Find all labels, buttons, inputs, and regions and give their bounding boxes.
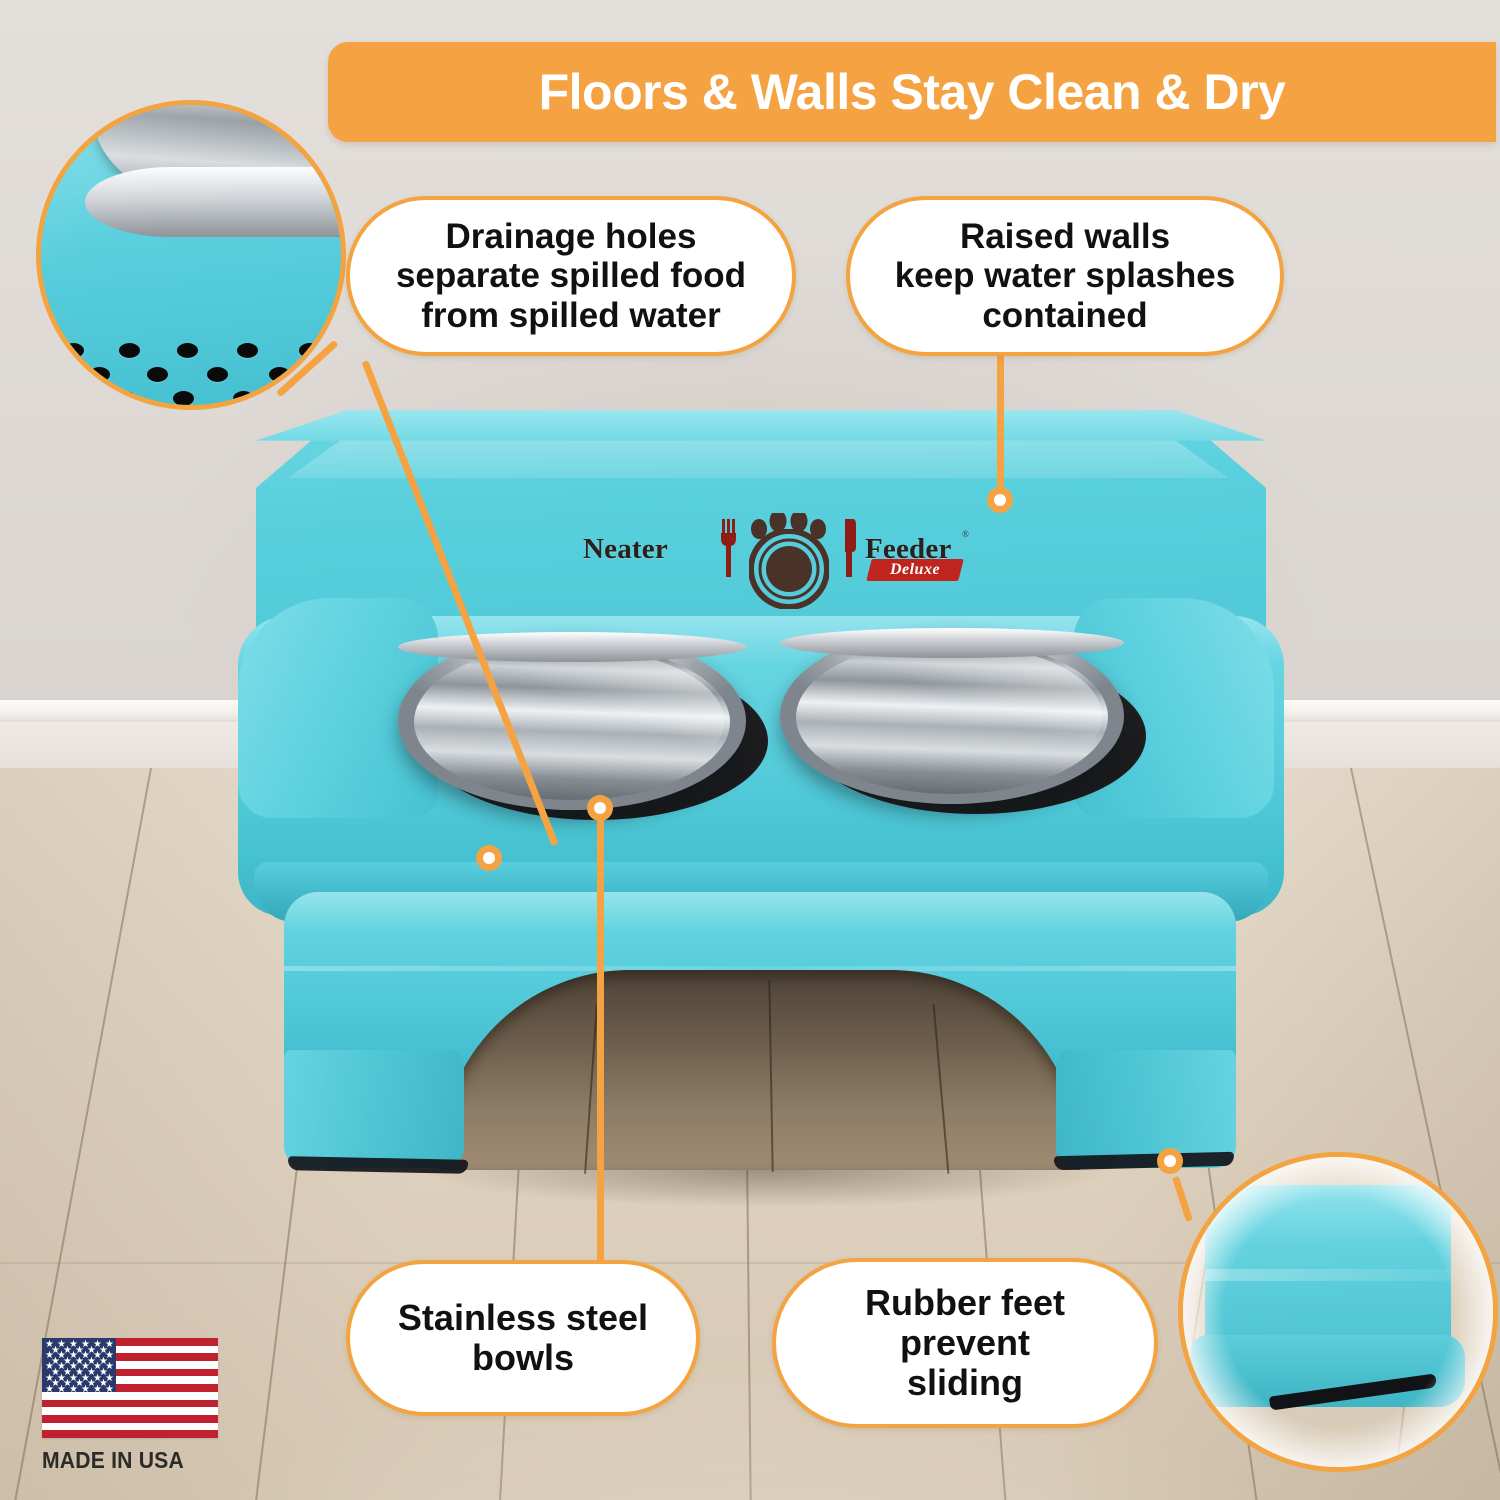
flag-star: ★ [93,1385,102,1395]
drainage-hole-2 [177,343,198,358]
inset-vignette [1183,1157,1493,1467]
drainage-hole-1 [119,343,140,358]
flag-star: ★ [57,1385,66,1395]
banner-title: Floors & Walls Stay Clean & Dry [539,63,1286,121]
drainage-hole-4 [299,343,320,358]
drainage-hole-0 [63,343,84,358]
bowl-left-gleam [420,648,724,794]
pet-feeder-product: Neater [228,410,1283,1240]
callout-stainless-steel-bowls: Stainless steel bowls [346,1260,700,1416]
feeder-base-arch [440,970,1080,1170]
logo-word-neater: Neater [583,533,668,566]
logo-deluxe-text: Deluxe [869,559,961,581]
drainage-hole-14 [173,391,194,406]
flag-star: ★ [105,1385,114,1395]
knife-icon [841,517,859,579]
bowl-right-gleam [802,644,1102,788]
callout-bowls-text: Stainless steel bowls [398,1298,648,1379]
callout-raised-walls-text: Raised walls keep water splashes contain… [895,217,1235,335]
drainage-hole-3 [237,343,258,358]
made-in-usa-label: MADE IN USA [42,1447,204,1474]
plate-icon [749,529,829,609]
bowl-right-rim [780,628,1124,658]
logo-deluxe-badge: Deluxe [866,559,963,581]
drainage-hole-12 [57,391,78,406]
drainage-hole-15 [233,391,254,406]
leader-line-raised-walls [997,352,1004,500]
flag-stripe-4 [42,1400,218,1408]
flag-stripe-5 [42,1415,218,1423]
drainage-hole-13 [115,391,136,406]
feeder-base-highlight [284,892,1236,932]
fork-icon [719,517,741,579]
callout-raised-walls: Raised walls keep water splashes contain… [846,196,1284,356]
leader-dot-rubber-feet [1157,1148,1183,1174]
drainage-hole-16 [295,391,316,406]
flag-star: ★ [69,1385,78,1395]
feeder-leg-right [1056,1050,1236,1168]
callout-rubber-feet-text: Rubber feet prevent sliding [865,1283,1065,1404]
bowl-left-rim [398,632,746,662]
drainage-hole-6 [89,367,110,382]
flag-star: ★ [81,1385,90,1395]
drainage-hole-9 [269,367,290,382]
drainage-holes-closeup-inset [36,100,346,410]
infographic-canvas: Neater [0,0,1500,1500]
us-flag-icon: ★★★★★★★★★★★★★★★★★★★★★★★★★★★★★★★★★★★★★★★★… [42,1338,218,1438]
leader-dot-bowls [587,795,613,821]
feeder-leg-left [284,1050,464,1168]
leader-line-bowls [597,808,604,1268]
drainage-hole-8 [207,367,228,382]
logo-registered-mark: ® [962,529,969,539]
flag-star: ★ [45,1385,54,1395]
drainage-hole-7 [147,367,168,382]
flag-canton: ★★★★★★★★★★★★★★★★★★★★★★★★★★★★★★★★★★★★★★★★… [42,1338,116,1392]
callout-drainage-holes: Drainage holes separate spilled food fro… [346,196,796,356]
header-banner: Floors & Walls Stay Clean & Dry [328,42,1496,142]
callout-drainage-holes-text: Drainage holes separate spilled food fro… [396,217,746,335]
rubber-feet-closeup-inset [1178,1152,1498,1472]
leader-dot-drainage [476,845,502,871]
back-wall-rim [256,410,1266,444]
callout-rubber-feet: Rubber feet prevent sliding [772,1258,1158,1428]
flag-stripe-6 [42,1430,218,1438]
inset-surface-highlight [41,105,341,405]
product-logo: Neater [583,513,923,583]
made-in-usa-badge: ★★★★★★★★★★★★★★★★★★★★★★★★★★★★★★★★★★★★★★★★… [42,1338,218,1478]
leader-dot-raised-walls [987,487,1013,513]
